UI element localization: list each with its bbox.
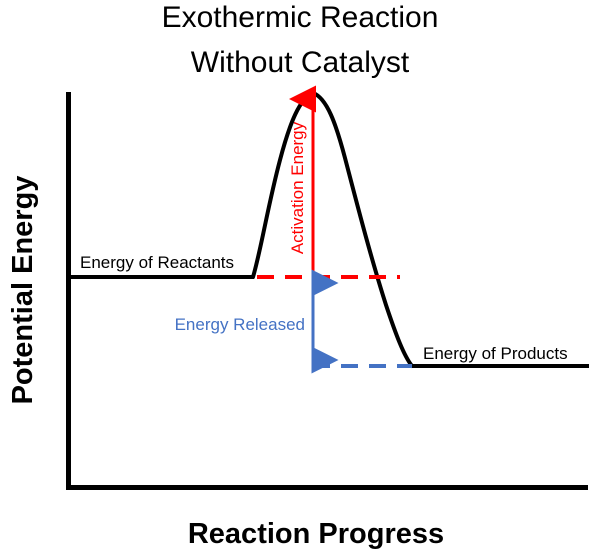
- reactants-label: Energy of Reactants: [80, 253, 234, 272]
- energy-profile-chart: Exothermic Reaction Without Catalyst Pot…: [0, 0, 600, 554]
- chart-title-line2: Without Catalyst: [191, 46, 410, 79]
- activation-energy-label: Activation Energy: [288, 121, 307, 254]
- energy-diagram: Exothermic Reaction Without Catalyst Pot…: [0, 0, 600, 554]
- y-axis-label: Potential Energy: [7, 176, 39, 405]
- energy-released-label: Energy Released: [175, 315, 305, 334]
- products-label: Energy of Products: [423, 344, 568, 363]
- x-axis-label: Reaction Progress: [188, 518, 444, 550]
- chart-title-line1: Exothermic Reaction: [162, 1, 439, 34]
